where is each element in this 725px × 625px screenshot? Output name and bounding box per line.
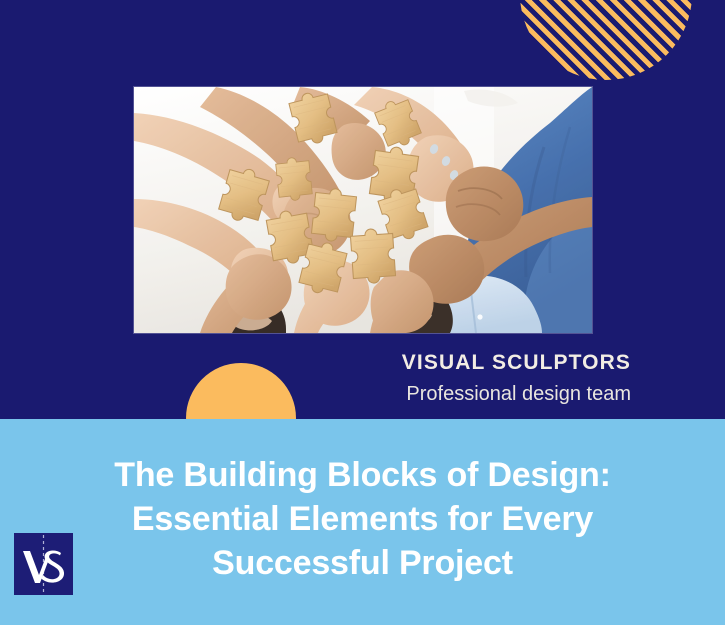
- hands-holding-puzzle-pieces-illustration: [134, 87, 592, 333]
- navy-background-panel: VISUAL SCULPTORS Professional design tea…: [0, 0, 725, 419]
- striped-circle-decoration-icon: [520, 0, 692, 80]
- vs-monogram-logo: [14, 533, 73, 595]
- brand-block: VISUAL SCULPTORS Professional design tea…: [301, 350, 631, 409]
- vs-monogram-logo-icon: [14, 533, 73, 595]
- brand-name: VISUAL SCULPTORS: [301, 350, 631, 376]
- page-title: The Building Blocks of Design: Essential…: [0, 453, 725, 586]
- hero-photo: [134, 87, 592, 333]
- headline-band: The Building Blocks of Design: Essential…: [0, 419, 725, 625]
- brand-tagline: Professional design team: [301, 380, 631, 409]
- headline-line-3: Successful Project: [40, 541, 685, 585]
- poster-canvas: VISUAL SCULPTORS Professional design tea…: [0, 0, 725, 625]
- headline-line-1: The Building Blocks of Design:: [40, 453, 685, 497]
- headline-line-2: Essential Elements for Every: [40, 497, 685, 541]
